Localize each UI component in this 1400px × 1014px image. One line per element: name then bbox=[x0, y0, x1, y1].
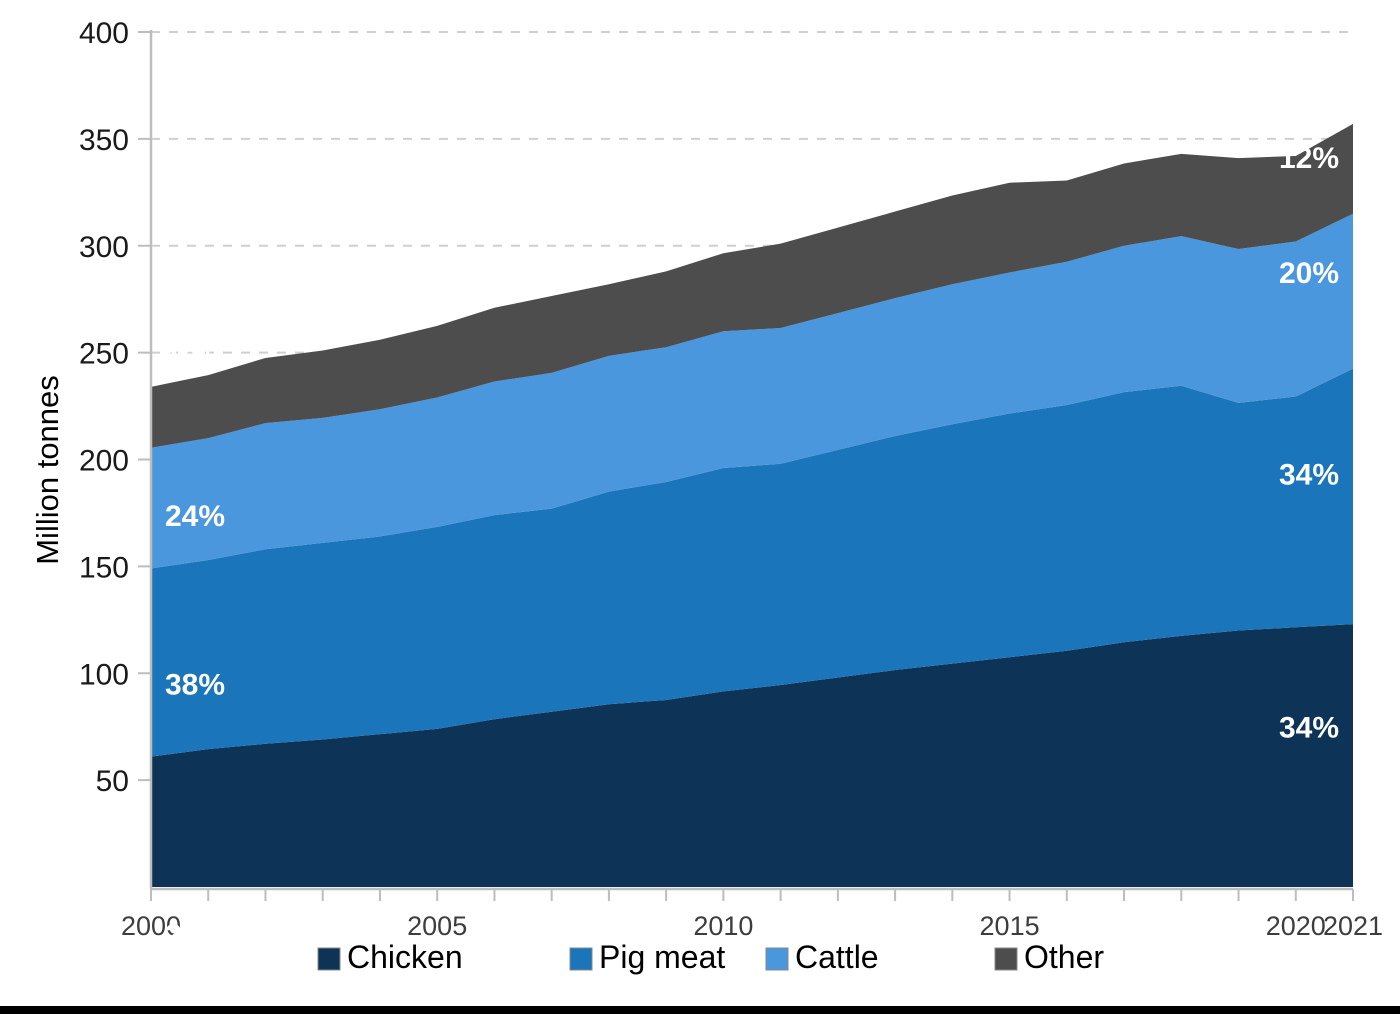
bottom-border-bar bbox=[0, 1006, 1400, 1014]
legend-label: Pig meat bbox=[599, 939, 725, 975]
legend-label: Cattle bbox=[795, 939, 879, 975]
legend-label: Other bbox=[1024, 939, 1104, 975]
percent-label-left-other: 12% bbox=[165, 343, 225, 376]
x-tick-label: 2021 bbox=[1323, 911, 1383, 941]
y-tick-label: 100 bbox=[79, 658, 129, 691]
y-tick-label: 200 bbox=[79, 445, 129, 478]
y-tick-label: 350 bbox=[79, 124, 129, 157]
percent-label-left-pig-meat: 38% bbox=[165, 669, 225, 702]
y-tick-label: 250 bbox=[79, 338, 129, 371]
legend-swatch bbox=[318, 948, 340, 970]
x-tick-label: 2015 bbox=[980, 911, 1040, 941]
x-tick-label: 2020 bbox=[1266, 911, 1326, 941]
y-tick-label: 400 bbox=[79, 17, 129, 50]
y-tick-label: 150 bbox=[79, 551, 129, 584]
y-tick-label: 300 bbox=[79, 231, 129, 264]
percent-label-right-pig-meat: 34% bbox=[1279, 458, 1339, 491]
percent-label-right-cattle: 20% bbox=[1279, 257, 1339, 290]
chart-svg: 50100150200250300350400 2000200520102015… bbox=[0, 0, 1400, 1014]
y-tick-label: 50 bbox=[96, 765, 129, 798]
x-tick-label: 2005 bbox=[407, 911, 467, 941]
legend-swatch bbox=[766, 948, 788, 970]
percent-label-right-other: 12% bbox=[1279, 142, 1339, 175]
legend-label: Chicken bbox=[347, 939, 463, 975]
legend-swatch bbox=[570, 948, 592, 970]
percent-label-right-chicken: 34% bbox=[1279, 712, 1339, 745]
area-chart: 50100150200250300350400 2000200520102015… bbox=[0, 0, 1400, 1014]
legend-swatch bbox=[995, 948, 1017, 970]
percent-label-left-cattle: 24% bbox=[165, 500, 225, 533]
x-tick-label: 2010 bbox=[693, 911, 753, 941]
percent-label-left-chicken: 25% bbox=[165, 919, 225, 952]
y-axis-title: Million tonnes bbox=[30, 375, 65, 565]
